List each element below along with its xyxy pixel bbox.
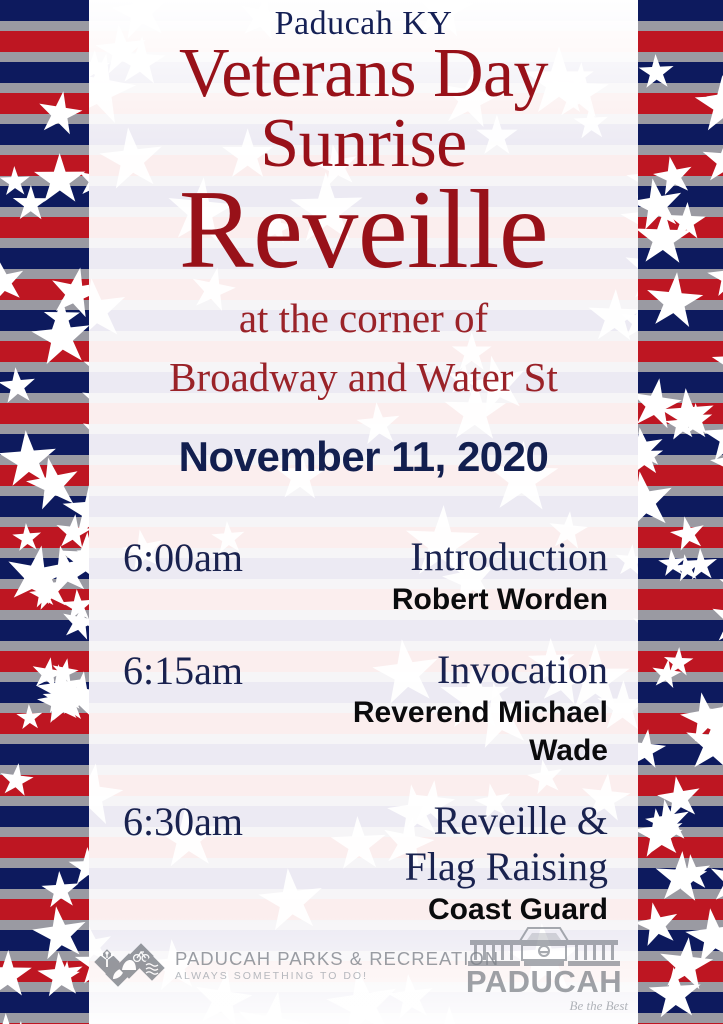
flag-border-right bbox=[638, 0, 723, 1024]
paducah-pavilion-icon bbox=[456, 924, 632, 968]
event-date: November 11, 2020 bbox=[89, 432, 638, 482]
parks-logo-tagline: ALWAYS SOMETHING TO DO! bbox=[175, 969, 499, 984]
schedule-event: Flag Raising bbox=[323, 844, 608, 890]
flag-border-left bbox=[0, 0, 89, 1024]
schedule-row: 6:30am Reveille & Flag Raising Coast Gua… bbox=[111, 798, 620, 929]
city-of-paducah-logo: PADUCAH Be the Best bbox=[456, 924, 632, 1014]
title-line-reveille: Reveille bbox=[89, 174, 638, 286]
footer-logos: PADUCAH PARKS & RECREATION ALWAYS SOMETH… bbox=[89, 924, 638, 1016]
location-line-2: Broadway and Water St bbox=[89, 351, 638, 404]
schedule-event: Reveille & bbox=[323, 798, 608, 844]
schedule-row: 6:15am Invocation Reverend Michael Wade bbox=[111, 647, 620, 770]
parks-logo-name: PADUCAH PARKS & RECREATION bbox=[175, 948, 499, 969]
schedule-time: 6:00am bbox=[111, 534, 323, 582]
schedule-time: 6:30am bbox=[111, 798, 323, 846]
poster: Paducah KY Veterans Day Sunrise Reveille… bbox=[0, 0, 723, 1024]
title-line-veterans-day: Veterans Day bbox=[89, 40, 638, 108]
city-logo-tagline: Be the Best bbox=[456, 998, 632, 1014]
parks-diamond-tiles-icon bbox=[93, 940, 167, 992]
schedule-time: 6:15am bbox=[111, 647, 323, 695]
schedule-event: Invocation bbox=[323, 647, 608, 693]
schedule-detail: Introduction Robert Worden bbox=[323, 534, 620, 619]
parks-logo-text: PADUCAH PARKS & RECREATION ALWAYS SOMETH… bbox=[175, 948, 499, 984]
schedule-detail: Invocation Reverend Michael Wade bbox=[323, 647, 620, 770]
schedule-person: Reverend Michael Wade bbox=[323, 694, 608, 770]
poster-content: Paducah KY Veterans Day Sunrise Reveille… bbox=[89, 0, 638, 1024]
schedule-event: Introduction bbox=[323, 534, 608, 580]
city-logo-name: PADUCAH bbox=[456, 966, 632, 998]
schedule-list: 6:00am Introduction Robert Worden 6:15am… bbox=[89, 534, 638, 929]
schedule-row: 6:00am Introduction Robert Worden bbox=[111, 534, 620, 619]
location-line-1: at the corner of bbox=[89, 292, 638, 345]
schedule-person: Robert Worden bbox=[323, 581, 608, 619]
paducah-parks-recreation-logo: PADUCAH PARKS & RECREATION ALWAYS SOMETH… bbox=[93, 940, 499, 992]
schedule-detail: Reveille & Flag Raising Coast Guard bbox=[323, 798, 620, 929]
